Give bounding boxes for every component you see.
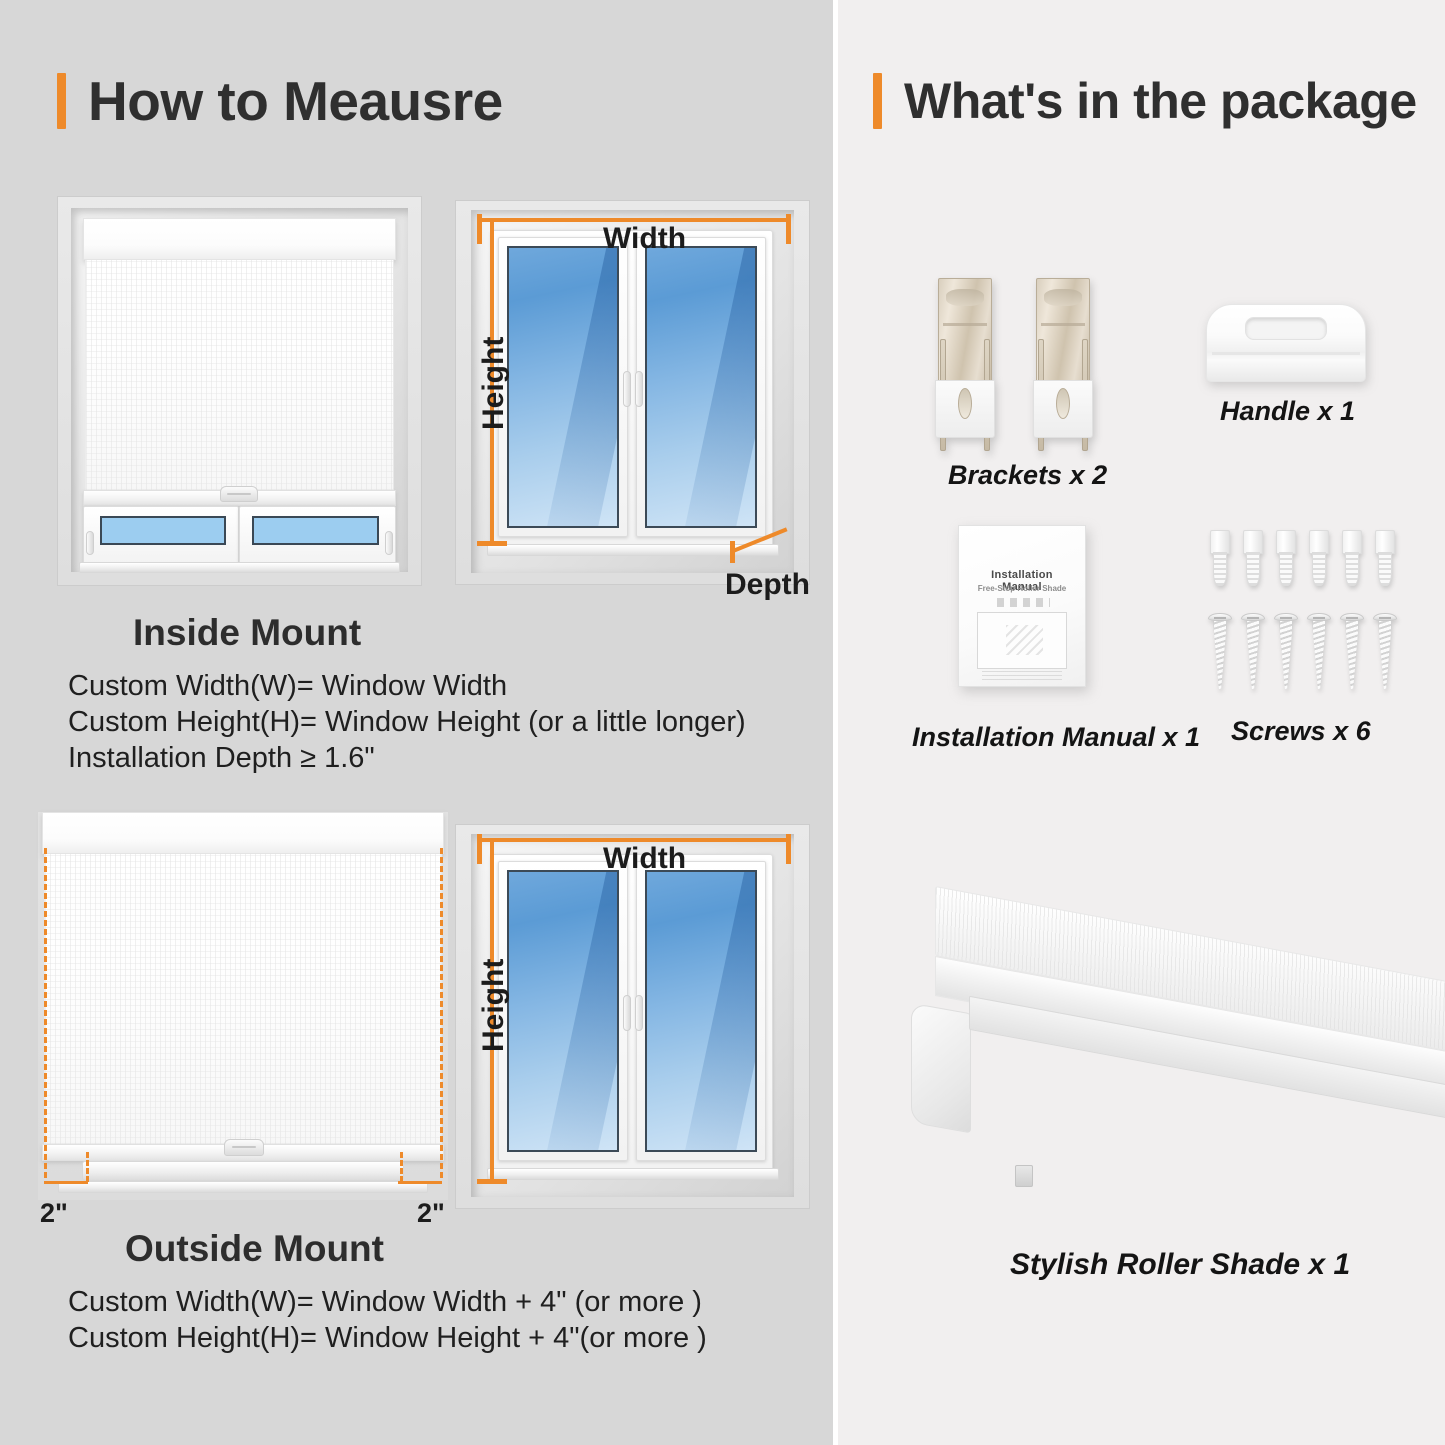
window-sash-right <box>636 861 766 1161</box>
inside-mount-window-diagram: Width Height Depth <box>455 200 810 585</box>
overhang-guide-right <box>440 848 443 1178</box>
handle-item <box>1206 304 1366 382</box>
installation-manual-label: Installation Manual x 1 <box>912 722 1200 753</box>
inside-mount-line-1: Custom Width(W)= Window Width <box>68 670 507 703</box>
roller-shade-item <box>905 880 1435 1200</box>
width-label: Width <box>603 222 686 256</box>
bracket-base <box>935 380 995 438</box>
inside-mount-title: Inside Mount <box>133 612 361 654</box>
manual-cover-lines <box>997 598 1050 607</box>
overhang-tick-left: 2" <box>40 1198 68 1229</box>
brackets-label: Brackets x 2 <box>948 460 1107 491</box>
window-sash-right <box>239 506 396 568</box>
accent-bar-icon <box>873 73 882 129</box>
installation-manual-item: Installation Manual Free-Stop Roller Sha… <box>958 525 1086 687</box>
sash-handle-right-icon <box>635 371 643 407</box>
wall-anchor-1 <box>1210 530 1230 586</box>
left-heading-text: How to Meausre <box>88 74 503 129</box>
wall-anchor-3 <box>1276 530 1296 586</box>
outside-mount-line-1: Custom Width(W)= Window Width + 4" (or m… <box>68 1286 702 1319</box>
wall-anchor-2 <box>1243 530 1263 586</box>
window-sash-left <box>498 861 628 1161</box>
wall-anchor-5 <box>1342 530 1362 586</box>
wall-anchor-4 <box>1309 530 1329 586</box>
overhang-arrow-right <box>398 1181 442 1184</box>
accent-bar-icon <box>57 73 66 129</box>
inside-mount-shade-illustration <box>57 196 422 586</box>
window-edge-guide-left <box>86 1152 89 1182</box>
window-sash-right <box>636 237 766 537</box>
width-marker-cap-right <box>786 214 791 244</box>
window-frame <box>491 230 773 548</box>
screws-label: Screws x 6 <box>1231 716 1371 747</box>
window-sill <box>82 1161 404 1181</box>
width-marker-cap-left <box>477 834 482 864</box>
wall-anchor-6 <box>1375 530 1395 586</box>
overhang-guide-left <box>44 848 47 1178</box>
screw-1 <box>1213 613 1227 689</box>
screw-2 <box>1246 613 1260 689</box>
shade-pull-handle <box>220 486 258 502</box>
height-label: Height <box>477 959 511 1052</box>
depth-marker-cap <box>730 541 735 563</box>
window-glass-right <box>645 246 757 528</box>
window-sash-left <box>498 237 628 537</box>
shade-headrail <box>42 812 444 854</box>
roller-shade-label: Stylish Roller Shade x 1 <box>1010 1248 1350 1282</box>
window-glass-left <box>507 246 619 528</box>
window-glass-right <box>645 870 757 1152</box>
window-glass-left <box>100 516 226 545</box>
inside-mount-line-3: Installation Depth ≥ 1.6" <box>68 742 375 775</box>
roller-shade-end-clip <box>1015 1165 1033 1187</box>
window-edge-guide-right <box>400 1152 403 1182</box>
bracket-base <box>1033 380 1093 438</box>
manual-cover-subtitle: Free-Stop Roller Shade <box>974 584 1070 593</box>
sash-handle-left-icon <box>623 995 631 1031</box>
outside-mount-line-2: Custom Height(H)= Window Height + 4"(or … <box>68 1322 707 1355</box>
window-frame <box>491 854 773 1172</box>
bracket-item-1 <box>938 278 992 438</box>
manual-cover-footer <box>982 670 1063 680</box>
window-glass-left <box>507 870 619 1152</box>
outside-mount-shade-illustration <box>38 812 448 1200</box>
height-label: Height <box>477 337 511 430</box>
outside-mount-window-diagram: Width Height <box>455 824 810 1209</box>
overhang-tick-right: 2" <box>417 1198 445 1229</box>
inside-mount-line-2: Custom Height(H)= Window Height (or a li… <box>68 706 746 739</box>
roller-shade-end-cap <box>911 1003 971 1134</box>
handle-label: Handle x 1 <box>1220 396 1355 427</box>
overhang-arrow-left <box>44 1181 88 1184</box>
window-sash-left <box>83 506 239 568</box>
left-panel-heading: How to Meausre <box>57 73 503 129</box>
window-sill-apron <box>58 1181 428 1193</box>
window-sill <box>487 1168 779 1180</box>
sash-handle-right-icon <box>635 995 643 1031</box>
height-marker-cap-bottom <box>477 541 507 546</box>
width-marker-cap-left <box>477 214 482 244</box>
height-marker-cap-bottom <box>477 1179 507 1184</box>
right-panel-heading: What's in the package <box>873 73 1417 129</box>
width-marker-cap-right <box>786 834 791 864</box>
screw-3 <box>1279 613 1293 689</box>
window-sill <box>79 562 400 573</box>
sash-handle-left-icon <box>623 371 631 407</box>
bracket-item-2 <box>1036 278 1090 438</box>
infographic-page: How to Meausre <box>0 0 1445 1445</box>
width-label: Width <box>603 842 686 876</box>
outside-mount-title: Outside Mount <box>125 1228 384 1270</box>
depth-label: Depth <box>725 568 810 602</box>
screw-6 <box>1378 613 1392 689</box>
manual-cover-diagram <box>977 612 1068 668</box>
window-glass-right <box>252 516 379 545</box>
sash-handle-left-icon <box>86 531 94 555</box>
sash-handle-right-icon <box>385 531 393 555</box>
screw-4 <box>1312 613 1326 689</box>
shade-fabric <box>85 260 394 490</box>
shade-headrail <box>83 218 396 260</box>
right-heading-text: What's in the package <box>904 76 1417 126</box>
screw-5 <box>1345 613 1359 689</box>
shade-pull-handle <box>224 1139 264 1156</box>
shade-fabric <box>44 854 442 1144</box>
